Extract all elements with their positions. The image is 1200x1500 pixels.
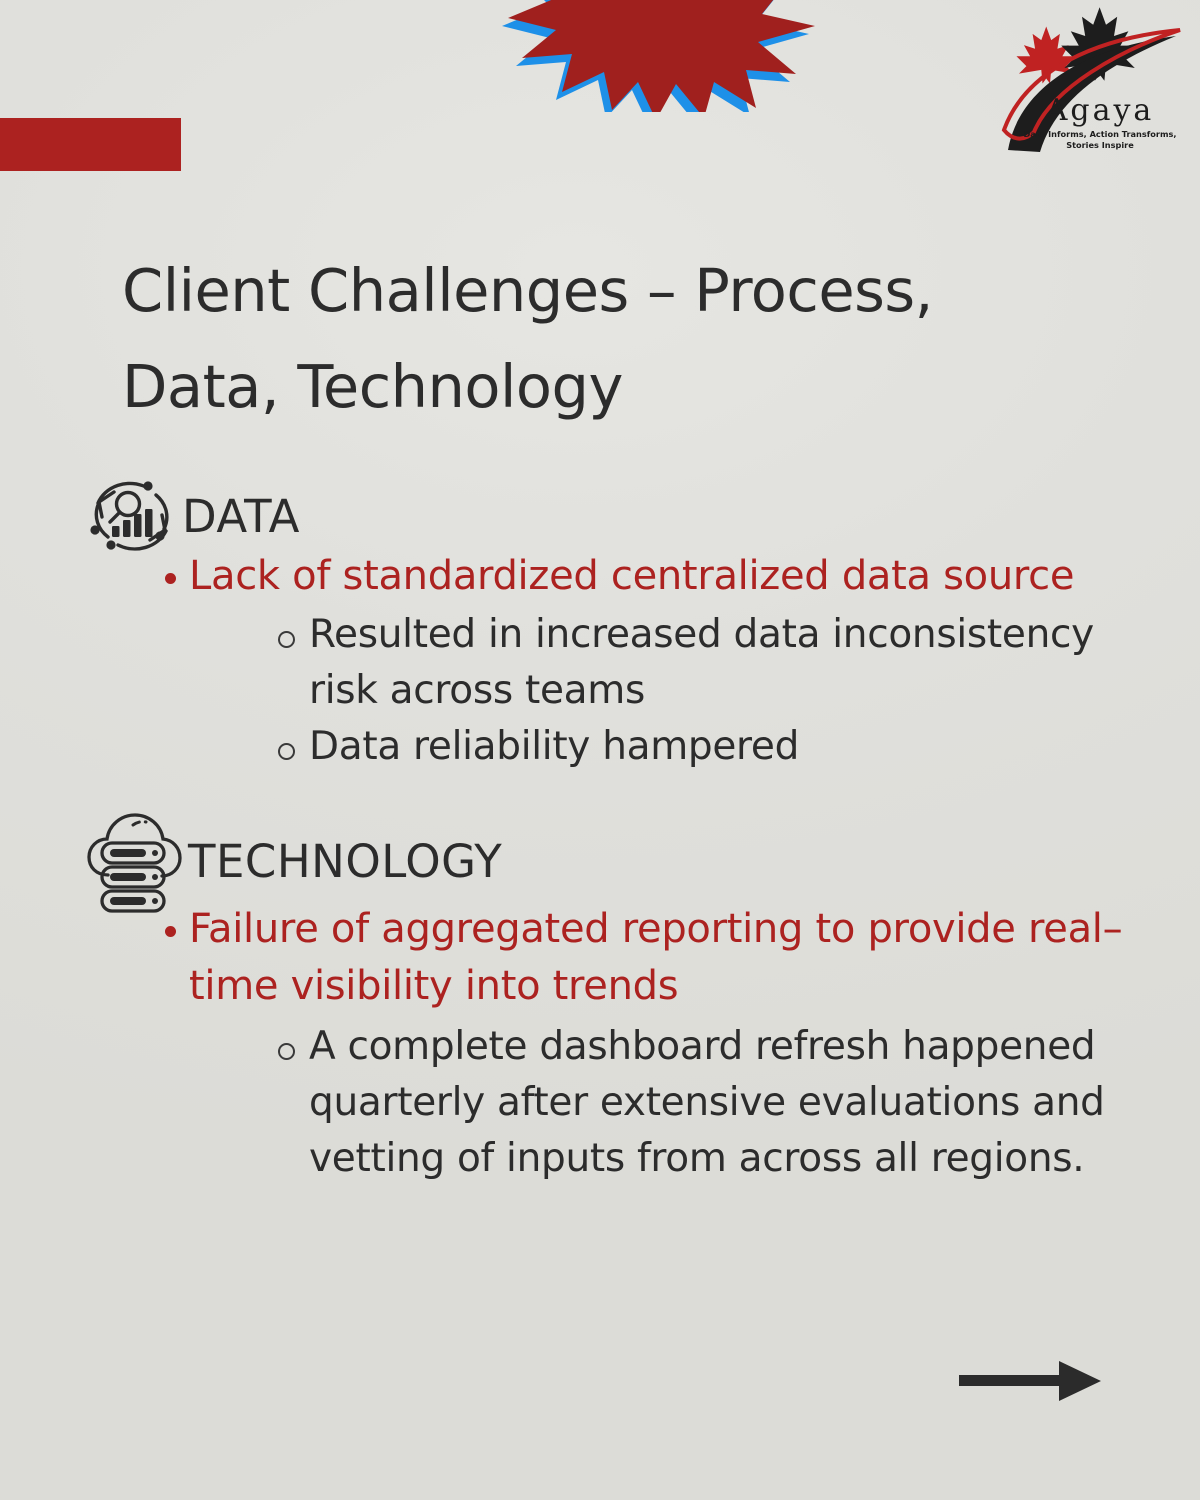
page-title: Client Challenges – Process, Data, Techn… [122,243,1022,434]
logo-tagline-1: Data Informs, Action Transforms, [1024,129,1177,139]
list-item: Failure of aggregated reporting to provi… [155,901,1145,1187]
right-arrow-icon [955,1355,1105,1407]
bullet-group-data: Lack of standardized centralized data so… [155,548,1115,775]
bullet-list-level2: Resulted in increased data inconsistency… [265,607,1125,775]
bullet-group-technology: Failure of aggregated reporting to provi… [155,901,1145,1187]
section-heading-data: DATA [182,490,300,543]
section-data: DATA Lack of standardized centralized da… [0,480,1200,777]
list-item: Resulted in increased data inconsistency… [265,607,1125,719]
list-item: Lack of standardized centralized data so… [155,548,1115,775]
bullet-primary-text: Lack of standardized centralized data so… [189,548,1115,605]
starburst-decoration [500,0,820,112]
bullet-primary-text: Failure of aggregated reporting to provi… [189,901,1145,1015]
logo-brand-text: Agaya [1045,93,1155,128]
next-arrow-button[interactable] [955,1355,1105,1407]
slide-canvas: Agaya Data Informs, Action Transforms, S… [0,0,1200,1500]
cloud-server-icon [84,807,188,915]
section-header-data: DATA [0,480,1200,552]
list-item: Data reliability hampered [265,719,1125,775]
section-heading-technology: TECHNOLOGY [188,835,502,888]
bullet-sub-text: Data reliability hampered [309,719,1125,775]
red-bar-accent [0,118,181,171]
section-technology: TECHNOLOGY Failure of aggregated reporti… [0,825,1200,1189]
bullet-sub-text: Resulted in increased data inconsistency… [309,607,1125,719]
bullet-list-level2: A complete dashboard refresh happened qu… [265,1019,1125,1187]
section-header-technology: TECHNOLOGY [0,825,1200,897]
bullet-list-level1: Lack of standardized centralized data so… [155,548,1115,775]
bullet-list-level1: Failure of aggregated reporting to provi… [155,901,1145,1187]
logo-tagline-2: Stories Inspire [1066,140,1134,150]
data-analytics-cycle-icon [84,473,180,559]
agaya-logo: Agaya Data Informs, Action Transforms, S… [1000,2,1190,172]
list-item: A complete dashboard refresh happened qu… [265,1019,1125,1187]
bullet-sub-text: A complete dashboard refresh happened qu… [309,1019,1125,1187]
